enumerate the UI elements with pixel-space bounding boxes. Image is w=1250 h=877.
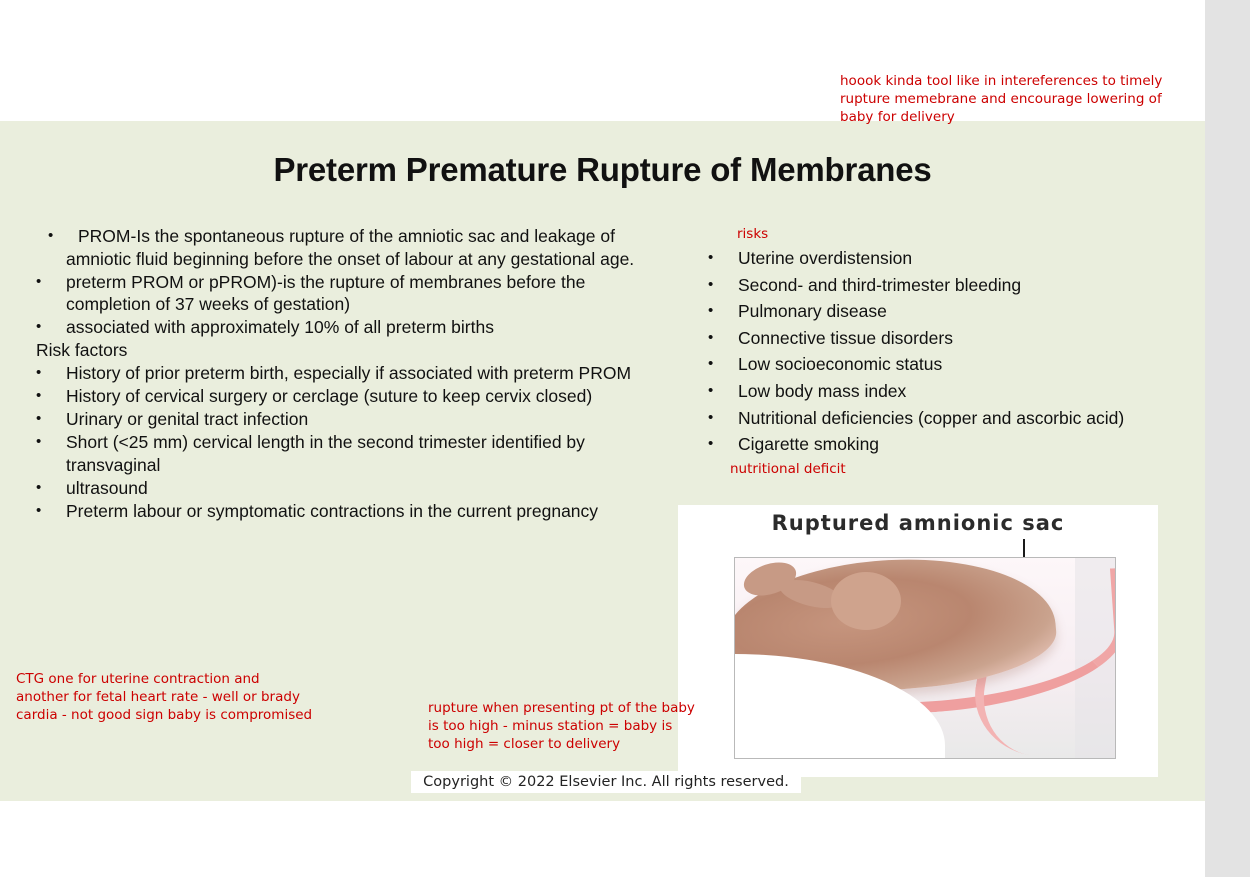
copyright-notice: Copyright © 2022 Elsevier Inc. All right… <box>411 771 801 793</box>
list-item: Low socioeconomic status <box>690 353 1160 376</box>
list-item: Uterine overdistension <box>690 247 1160 270</box>
page-title: Preterm Premature Rupture of Membranes <box>0 151 1205 189</box>
list-item: Nutritional deficiencies (copper and asc… <box>690 407 1160 430</box>
list-item: Second- and third-trimester bleeding <box>690 274 1160 297</box>
definition-list: PROM-Is the spontaneous rupture of the a… <box>18 225 658 339</box>
figure-ruptured-amnionic-sac: Ruptured amnionic sac <box>678 505 1158 777</box>
list-item-sub: associated with approximately 10% of all… <box>18 316 658 339</box>
left-content-column: PROM-Is the spontaneous rupture of the a… <box>18 225 658 523</box>
list-item: Cigarette smoking <box>690 433 1160 456</box>
right-gutter-strip <box>1205 0 1250 877</box>
annotation-top-right: hoook kinda tool like in intereferences … <box>840 72 1180 126</box>
annotation-nutritional-deficit: nutritional deficit <box>690 460 1160 478</box>
list-item: History of prior preterm birth, especial… <box>18 362 658 385</box>
risk-factors-heading: Risk factors <box>18 339 658 362</box>
annotation-bottom-left: CTG one for uterine contraction and anot… <box>16 670 316 724</box>
fetal-head-shape <box>831 572 901 630</box>
figure-caption: Ruptured amnionic sac <box>678 511 1158 535</box>
risks-list: Uterine overdistension Second- and third… <box>690 225 1160 456</box>
list-item: Short (<25 mm) cervical length in the se… <box>18 431 658 476</box>
list-item: ultrasound <box>18 477 658 500</box>
list-item: Pulmonary disease <box>690 300 1160 323</box>
list-item: Urinary or genital tract infection <box>18 408 658 431</box>
risk-factors-list: History of prior preterm birth, especial… <box>18 362 658 523</box>
list-item: Low body mass index <box>690 380 1160 403</box>
slide-canvas: Preterm Premature Rupture of Membranes P… <box>0 121 1205 801</box>
annotation-bottom-middle: rupture when presenting pt of the baby i… <box>428 699 698 753</box>
list-item: PROM-Is the spontaneous rupture of the a… <box>18 225 658 270</box>
right-content-column: risks Uterine overdistension Second- and… <box>690 225 1160 478</box>
list-item: preterm PROM or pPROM)-is the rupture of… <box>18 271 658 316</box>
list-item: Preterm labour or symptomatic contractio… <box>18 500 658 523</box>
list-item: Connective tissue disorders <box>690 327 1160 350</box>
list-item: History of cervical surgery or cerclage … <box>18 385 658 408</box>
annotation-risks: risks <box>737 225 768 243</box>
figure-illustration <box>734 557 1116 759</box>
